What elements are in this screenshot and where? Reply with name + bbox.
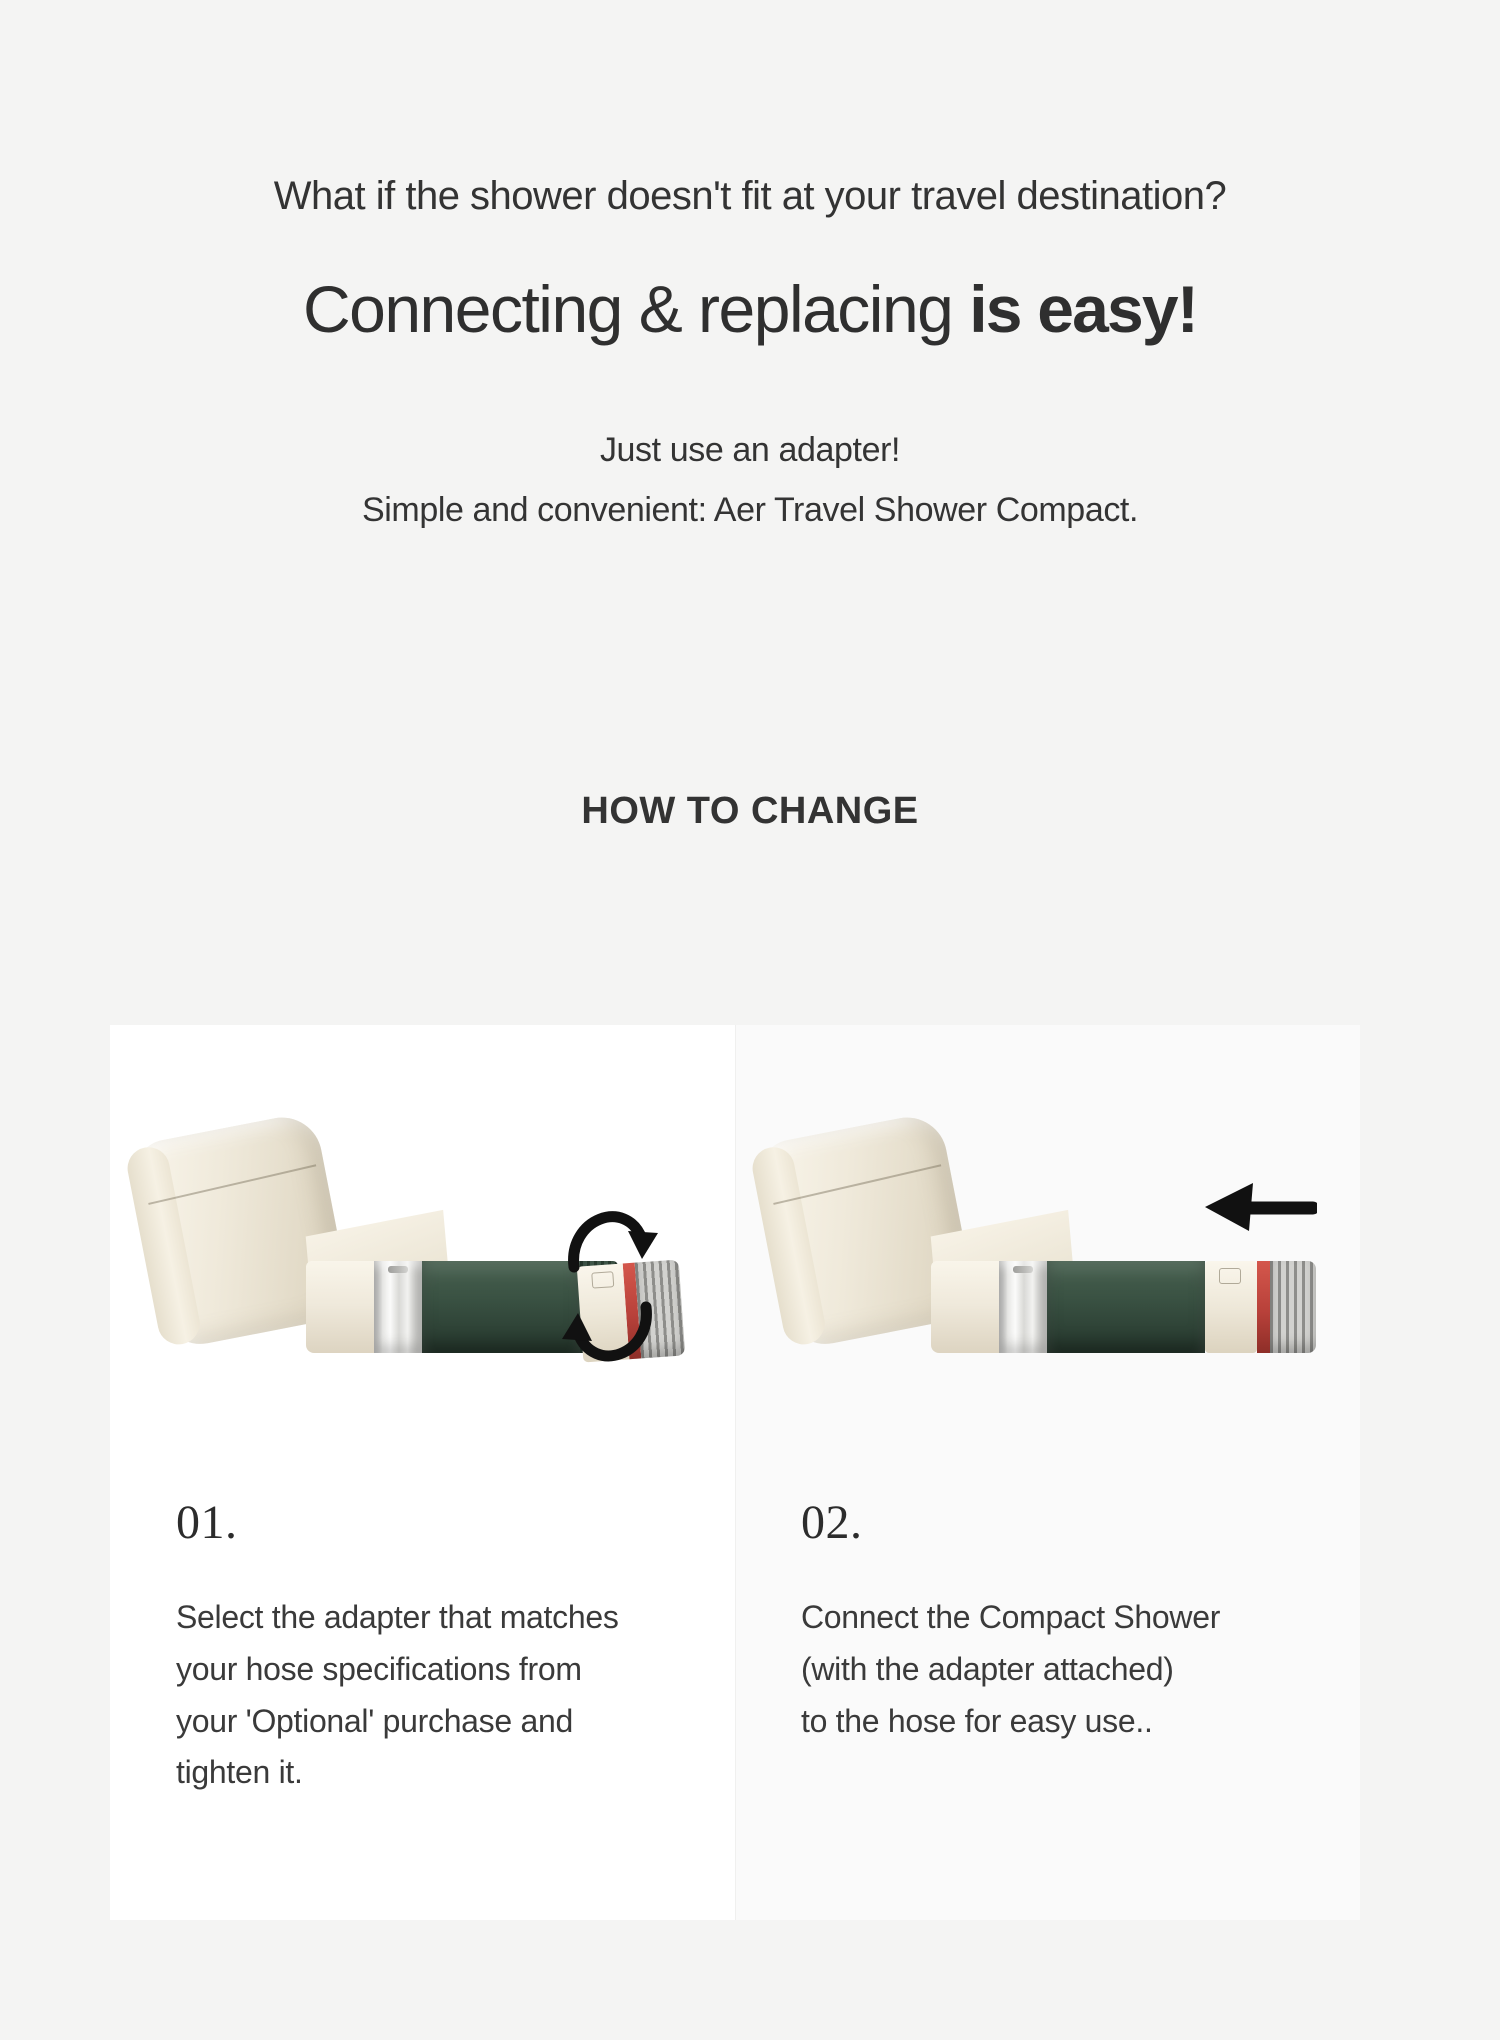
shower-handle-assembly-with-adapter <box>931 1261 1316 1353</box>
page-title: Connecting & replacing is easy! <box>0 272 1500 348</box>
step-02-illustration <box>735 1025 1360 1495</box>
hero-subtext: Just use an adapter! Simple and convenie… <box>0 420 1500 541</box>
step-01-caption-line-2: your hose specifications from <box>176 1644 669 1696</box>
handle-green-body <box>1047 1261 1205 1353</box>
step-01-illustration <box>110 1025 735 1495</box>
step-card-02: 02. Connect the Compact Shower (with the… <box>735 1025 1360 1920</box>
step-01-caption-line-4: tighten it. <box>176 1747 669 1799</box>
step-02-text-block: 02. Connect the Compact Shower (with the… <box>735 1495 1360 1747</box>
how-to-change-steps: 01. Select the adapter that matches your… <box>110 1025 1360 1920</box>
step-01-caption: Select the adapter that matches your hos… <box>176 1592 669 1799</box>
product-detail-page: What if the shower doesn't fit at your t… <box>0 0 1500 2040</box>
attached-adapter-threaded-end <box>1270 1261 1316 1353</box>
step-01-text-block: 01. Select the adapter that matches your… <box>110 1495 735 1799</box>
page-title-regular: Connecting & replacing <box>303 272 969 346</box>
hero-eyebrow: What if the shower doesn't fit at your t… <box>0 172 1500 220</box>
handle-cream-segment <box>306 1261 374 1353</box>
rotate-arrow-icon <box>550 1175 670 1395</box>
step-01-number: 01. <box>176 1495 669 1550</box>
page-title-accent: is easy! <box>969 272 1197 346</box>
step-01-caption-line-3: your 'Optional' purchase and <box>176 1696 669 1748</box>
section-heading-how-to-change: HOW TO CHANGE <box>0 790 1500 833</box>
hero-subtext-line-2: Simple and convenient: Aer Travel Shower… <box>0 480 1500 541</box>
hero-subtext-line-1: Just use an adapter! <box>600 431 900 469</box>
hero-section: What if the shower doesn't fit at your t… <box>0 0 1500 541</box>
step-card-01: 01. Select the adapter that matches your… <box>110 1025 735 1920</box>
step-02-number: 02. <box>801 1495 1294 1550</box>
handle-chrome-collar <box>374 1261 422 1353</box>
step-02-caption-line-3: to the hose for easy use.. <box>801 1696 1294 1748</box>
step-02-caption-line-1: Connect the Compact Shower <box>801 1592 1294 1644</box>
left-arrow-icon <box>1197 1173 1317 1243</box>
step-02-caption: Connect the Compact Shower (with the ada… <box>801 1592 1294 1747</box>
handle-chrome-collar <box>999 1261 1047 1353</box>
attached-adapter-red-gasket <box>1257 1261 1270 1353</box>
attached-adapter-cream-body <box>1205 1261 1257 1353</box>
step-01-caption-line-1: Select the adapter that matches <box>176 1592 669 1644</box>
step-02-caption-line-2: (with the adapter attached) <box>801 1644 1294 1696</box>
handle-cream-segment <box>931 1261 999 1353</box>
